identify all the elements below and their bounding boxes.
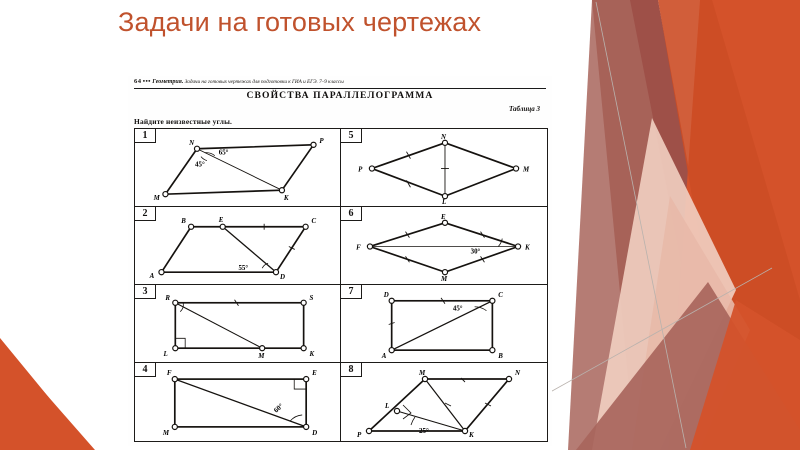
figure-5-vertex-dots bbox=[369, 140, 518, 198]
figure-5-label-P: P bbox=[358, 166, 363, 173]
decor-hairline-1 bbox=[596, 2, 686, 448]
decor-orange-dark-wedge bbox=[658, 0, 800, 450]
figure-6-label-E: E bbox=[440, 214, 446, 221]
figure-5-rhombus bbox=[372, 143, 516, 196]
figure-4-arc-60 bbox=[290, 415, 302, 421]
figure-7-diagonal-AC bbox=[392, 301, 493, 350]
figure-7-label-D: D bbox=[383, 292, 389, 299]
decoration-left bbox=[0, 250, 120, 450]
problem-figure-3: R S L K M bbox=[135, 285, 340, 362]
problem-cell-4: 4 F E M D 60° bbox=[135, 363, 341, 441]
problem-grid: 1 M N P K 45° bbox=[134, 128, 548, 442]
figure-2-label-E: E bbox=[218, 217, 224, 224]
figure-8-arc-25 bbox=[411, 417, 415, 425]
figure-3-segment-RM bbox=[175, 303, 262, 348]
figure-8-height-KL bbox=[397, 411, 465, 431]
figure-4-label-D: D bbox=[311, 429, 317, 437]
decor-peach-mid-wedge bbox=[632, 196, 750, 450]
figure-3-label-R: R bbox=[164, 295, 170, 302]
decor-right-svg bbox=[540, 0, 800, 450]
figure-5-label-N: N bbox=[440, 134, 447, 141]
figure-7-label-A: A bbox=[381, 353, 387, 360]
figure-7-label-C: C bbox=[498, 292, 503, 299]
problem-number-4: 4 bbox=[135, 363, 156, 377]
decor-brown-light-band bbox=[568, 0, 718, 450]
figure-2-angle-55: 55° bbox=[238, 265, 248, 272]
worksheet-table-label: Таблица 3 bbox=[509, 105, 540, 113]
figure-6-label-M: M bbox=[440, 276, 448, 283]
figure-2-vertex-dots bbox=[159, 224, 308, 275]
figure-3-arc-R bbox=[180, 303, 183, 312]
worksheet-page-number: 64 bbox=[134, 78, 141, 85]
figure-5-tick-marks bbox=[406, 152, 448, 188]
figure-6-vertex-dots bbox=[367, 220, 520, 274]
decor-orange-lower bbox=[690, 300, 800, 450]
figure-8-tick-marks bbox=[445, 378, 491, 406]
figure-5-label-L: L bbox=[441, 199, 446, 206]
figure-1-arc-45 bbox=[201, 157, 207, 161]
problem-cell-8: 8 bbox=[341, 363, 547, 441]
worksheet-page: 64 ••• Геометрия. Задачи на готовых черт… bbox=[128, 76, 552, 446]
decor-brown-lower-triangle bbox=[576, 282, 800, 450]
figure-1-label-P: P bbox=[319, 138, 324, 145]
problem-number-1: 1 bbox=[135, 129, 156, 143]
worksheet-heading: СВОЙСТВА ПАРАЛЛЕЛОГРАММА bbox=[128, 90, 552, 101]
figure-6-label-K: K bbox=[524, 244, 530, 251]
figure-8-right-angle-L bbox=[403, 405, 411, 419]
figure-3-label-S: S bbox=[310, 295, 314, 302]
figure-6-label-F: F bbox=[356, 244, 361, 251]
figure-6-angle-30: 30° bbox=[471, 248, 481, 255]
worksheet-instruction: Найдите неизвестные углы. bbox=[134, 117, 232, 126]
slide-canvas: Задачи на готовых чертежах 64 ••• Геомет… bbox=[0, 0, 800, 450]
problem-figure-5: P N M L bbox=[341, 129, 547, 206]
problem-number-7: 7 bbox=[341, 285, 362, 299]
figure-4-label-F: F bbox=[167, 369, 172, 377]
figure-1-angle-65: 65° bbox=[219, 150, 229, 157]
problem-figure-7: D C A B 45° bbox=[341, 285, 547, 362]
figure-2-label-A: A bbox=[149, 273, 155, 280]
problem-figure-1: M N P K 45° 65° bbox=[135, 129, 340, 206]
decor-hairline-2 bbox=[540, 268, 772, 400]
figure-6-tick-marks bbox=[406, 232, 485, 263]
figure-7-tick-marks bbox=[389, 298, 445, 325]
problem-figure-8: M N P K L 25° bbox=[341, 363, 547, 441]
figure-1-label-K: K bbox=[283, 195, 289, 202]
problem-figure-2: A B C D E 55° bbox=[135, 207, 340, 284]
problem-number-2: 2 bbox=[135, 207, 156, 221]
problem-cell-6: 6 bbox=[341, 207, 547, 285]
figure-4-label-E: E bbox=[311, 369, 317, 377]
figure-3-rectangle bbox=[175, 303, 303, 348]
figure-3-label-K: K bbox=[309, 351, 315, 358]
figure-8-label-L: L bbox=[384, 402, 389, 410]
figure-2-label-C: C bbox=[312, 218, 317, 225]
problem-cell-1: 1 M N P K 45° bbox=[135, 129, 341, 207]
worksheet-head-separator: ••• bbox=[143, 78, 151, 85]
decoration-right bbox=[540, 0, 800, 450]
worksheet-book-subtitle: Задачи на готовых чертежах для подготовк… bbox=[185, 79, 344, 85]
problem-figure-6: F E K M 30° bbox=[341, 207, 547, 284]
decor-peach-wedge bbox=[592, 118, 736, 450]
figure-2-tick-marks bbox=[264, 224, 295, 250]
figure-8-label-K: K bbox=[468, 431, 475, 439]
figure-8-label-P: P bbox=[357, 431, 362, 439]
figure-8-diagonal-MK bbox=[425, 379, 465, 431]
figure-1-label-N: N bbox=[188, 140, 195, 147]
figure-2-parallelogram bbox=[161, 227, 305, 272]
problem-cell-7: 7 D C bbox=[341, 285, 547, 363]
figure-2-label-B: B bbox=[180, 218, 186, 225]
problem-number-8: 8 bbox=[341, 363, 362, 377]
figure-5-label-M: M bbox=[522, 166, 530, 173]
figure-3-vertex-dots bbox=[173, 300, 306, 351]
problem-cell-5: 5 P N bbox=[341, 129, 547, 207]
decor-brown-band bbox=[592, 0, 740, 450]
figure-4-angle-60: 60° bbox=[272, 402, 285, 415]
decor-left-svg bbox=[0, 250, 120, 450]
figure-8-label-N: N bbox=[514, 369, 521, 377]
figure-3-label-L: L bbox=[162, 351, 167, 358]
decor-left-triangle bbox=[0, 338, 92, 450]
figure-1-label-M: M bbox=[153, 195, 161, 202]
worksheet-running-head: 64 ••• Геометрия. Задачи на готовых черт… bbox=[134, 78, 546, 89]
problem-number-3: 3 bbox=[135, 285, 156, 299]
figure-3-label-M: M bbox=[257, 353, 265, 360]
figure-2-label-D: D bbox=[279, 274, 285, 281]
figure-1-angle-45: 45° bbox=[195, 162, 205, 169]
figure-8-label-M: M bbox=[418, 369, 426, 377]
figure-4-label-M: M bbox=[162, 429, 170, 437]
figure-7-angle-45: 45° bbox=[453, 306, 463, 313]
problem-number-5: 5 bbox=[341, 129, 362, 143]
figure-1-diagonal-NK bbox=[197, 149, 282, 190]
decor-orange-mass bbox=[668, 0, 800, 450]
page-title: Задачи на готовых чертежах bbox=[118, 4, 481, 40]
worksheet-book-title: Геометрия. bbox=[152, 79, 183, 85]
figure-6-rhombus bbox=[370, 223, 518, 272]
problem-cell-2: 2 A bbox=[135, 207, 341, 285]
figure-7-label-B: B bbox=[497, 353, 503, 360]
figure-2-segment-ED bbox=[223, 227, 276, 272]
figure-4-diagonal-FD bbox=[175, 379, 306, 427]
problem-figure-4: F E M D 60° bbox=[135, 363, 340, 441]
problem-number-6: 6 bbox=[341, 207, 362, 221]
decor-left-triangle-main bbox=[0, 336, 95, 450]
figure-8-angle-25: 25° bbox=[419, 427, 429, 435]
problem-cell-3: 3 R S bbox=[135, 285, 341, 363]
